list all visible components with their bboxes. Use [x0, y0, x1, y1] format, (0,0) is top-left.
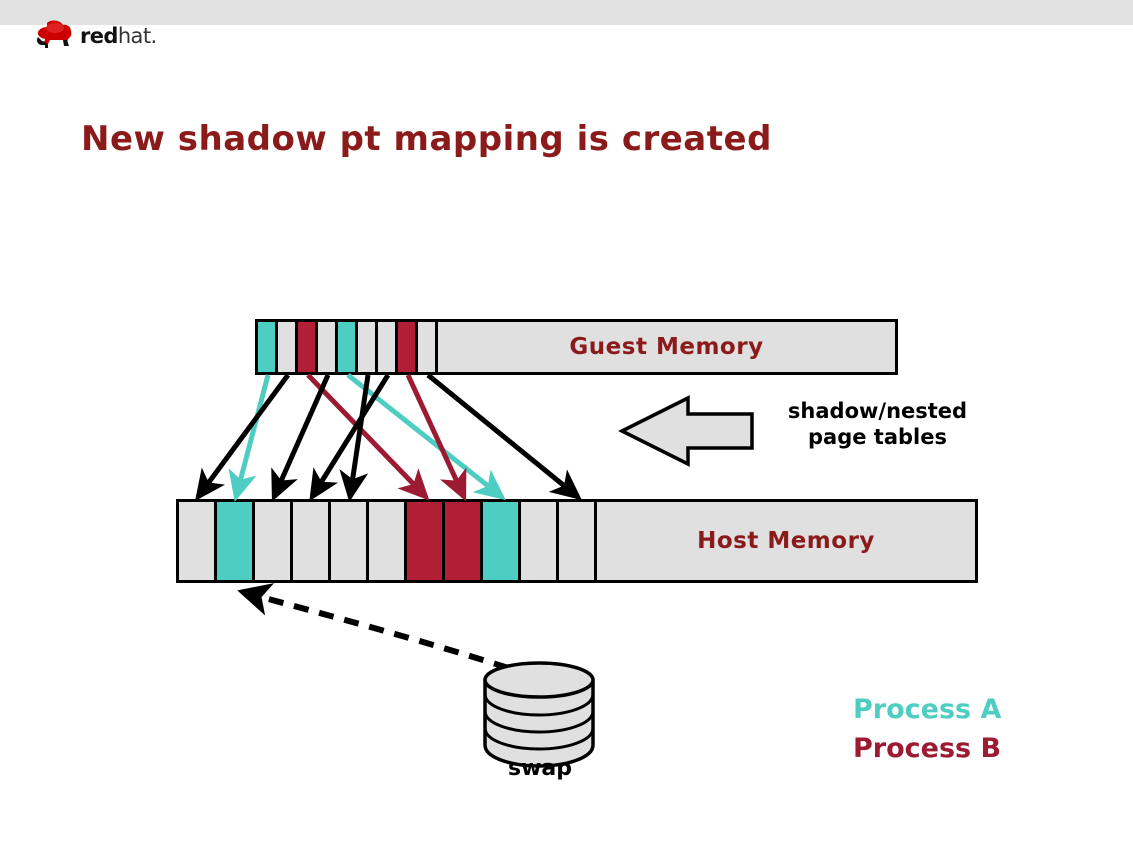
host-memory-free-region: Host Memory	[597, 502, 975, 580]
mapping-arrow-4-process-A	[348, 375, 502, 497]
host-memory-cell-7	[445, 502, 483, 580]
legend-item-process-b: Process B	[853, 729, 1001, 768]
host-memory-cell-8	[483, 502, 521, 580]
host-memory-label: Host Memory	[697, 528, 875, 554]
mapping-arrow-6-process-free	[312, 375, 388, 497]
mapping-arrow-0-process-A	[236, 375, 268, 497]
guest-memory-cell-3	[318, 322, 338, 372]
legend: Process A Process B	[853, 690, 1001, 768]
page-title: New shadow pt mapping is created	[81, 119, 772, 159]
spt-label-line1: shadow/nested	[765, 398, 990, 424]
host-memory-cell-4	[331, 502, 369, 580]
guest-memory-bar: Guest Memory	[255, 319, 898, 375]
guest-memory-cell-8	[418, 322, 438, 372]
host-memory-cell-0	[179, 502, 217, 580]
legend-item-process-a: Process A	[853, 690, 1001, 729]
host-memory-cell-5	[369, 502, 407, 580]
wordmark-red: red	[80, 24, 118, 48]
swap-disk-stack-icon	[485, 663, 593, 766]
mapping-arrow-group	[198, 375, 578, 497]
mapping-arrow-3-process-free	[274, 375, 328, 497]
guest-memory-cell-5	[358, 322, 378, 372]
swap-dashed-arrow	[243, 592, 533, 676]
host-memory-cell-10	[559, 502, 597, 580]
spt-label-line2: page tables	[765, 424, 990, 450]
wordmark-hat: hat	[118, 24, 151, 48]
wordmark-dot: .	[150, 24, 156, 48]
guest-memory-cell-2	[298, 322, 318, 372]
guest-memory-label: Guest Memory	[569, 334, 763, 360]
host-memory-cell-9	[521, 502, 559, 580]
mapping-arrow-2-process-B	[308, 375, 426, 497]
mapping-arrow-1-process-free	[198, 375, 288, 497]
mapping-arrow-7-process-B	[408, 375, 464, 497]
host-memory-cell-1	[217, 502, 255, 580]
host-memory-cell-2	[255, 502, 293, 580]
guest-memory-cell-7	[398, 322, 418, 372]
redhat-logo: redhat.	[34, 20, 184, 54]
guest-memory-cell-0	[258, 322, 278, 372]
left-block-arrow-icon	[622, 398, 752, 464]
guest-memory-cell-1	[278, 322, 298, 372]
mapping-arrow-8-process-free	[428, 375, 578, 497]
redhat-shadowman-icon	[34, 20, 78, 50]
guest-memory-free-region: Guest Memory	[438, 322, 895, 372]
guest-memory-cell-4	[338, 322, 358, 372]
host-memory-cell-6	[407, 502, 445, 580]
guest-memory-cell-6	[378, 322, 398, 372]
mapping-arrow-5-process-free	[350, 375, 368, 497]
shadow-page-tables-label: shadow/nested page tables	[765, 398, 990, 451]
host-memory-bar: Host Memory	[176, 499, 978, 583]
host-memory-cell-3	[293, 502, 331, 580]
redhat-wordmark: redhat.	[80, 24, 157, 48]
swap-label: swap	[460, 756, 620, 781]
